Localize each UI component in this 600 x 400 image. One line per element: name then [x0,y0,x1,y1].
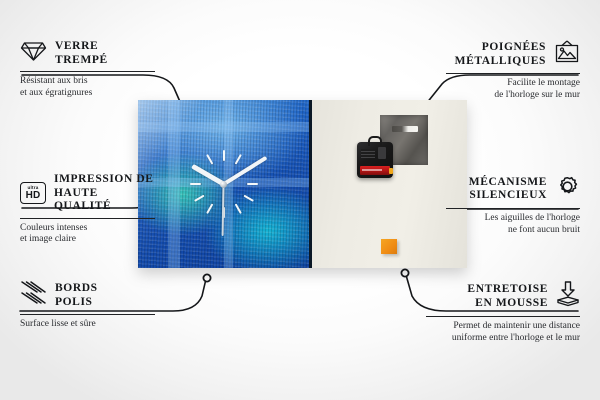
mechanism-loop [368,136,382,146]
connector-dot-bords-polis [203,274,210,281]
feature-title: VERRE TREMPÉ [55,40,108,67]
feature-verre-trempe: VERRE TREMPÉ Résistant aux bris et aux é… [20,40,155,99]
battery [360,166,390,175]
feature-title: MÉCANISME SILENCIEUX [469,176,547,203]
feature-title: BORDS POLIS [55,282,98,309]
feature-divider [20,71,155,72]
reflection-band [138,122,309,132]
gear-icon [555,174,580,204]
product-infographic: VERRE TREMPÉ Résistant aux bris et aux é… [0,0,600,400]
battery-stripe [362,169,382,171]
foam-spacer [381,239,397,254]
feature-title: IMPRESSION DE HAUTE QUALITÉ [54,173,155,214]
feature-divider [426,316,580,317]
mechanism-housing [378,147,386,159]
product-image [138,100,470,268]
mechanism-label [361,149,375,158]
spacer-arrow-icon [556,281,580,312]
feature-title: POIGNÉES MÉTALLIQUES [455,41,546,68]
feature-divider [446,208,580,209]
feature-description: Couleurs intenses et image claire [20,223,155,246]
reflection-band [168,100,180,268]
polished-edges-icon [20,281,47,310]
feature-divider [20,218,155,219]
feature-divider [446,73,580,74]
clock-back-face [312,100,467,268]
feature-poignees-metalliques: POIGNÉES MÉTALLIQUES Facilite le montage… [446,40,580,101]
connector-dot-entretoise [401,269,408,276]
feature-description: Facilite le montage de l'horloge sur le … [446,78,580,101]
feature-impression-haute-qualite: ultra HD IMPRESSION DE HAUTE QUALITÉ Cou… [20,173,155,246]
feature-description: Résistant aux bris et aux égratignures [20,76,155,99]
diamond-icon [20,40,47,67]
hanger-slot [392,126,418,132]
clock-mechanism [357,142,393,178]
hand-pin [220,181,227,188]
feature-entretoise-en-mousse: ENTRETOISE EN MOUSSE Permet de maintenir… [426,281,580,344]
picture-frame-icon [554,40,580,69]
feature-description: Surface lisse et sûre [20,319,155,331]
feature-bords-polis: BORDS POLIS Surface lisse et sûre [20,281,155,331]
second-hand [222,184,224,236]
ultra-hd-icon-large-text: HD [26,191,41,201]
clock-front-face [138,100,312,268]
feature-description: Les aiguilles de l'horloge ne font aucun… [446,213,580,236]
ultra-hd-icon: ultra HD [20,182,46,204]
feature-description: Permet de maintenir une distance uniform… [426,321,580,344]
feature-title: ENTRETOISE EN MOUSSE [467,283,548,310]
feature-mecanisme-silencieux: MÉCANISME SILENCIEUX Les aiguilles de l'… [446,174,580,236]
feature-divider [20,314,155,315]
